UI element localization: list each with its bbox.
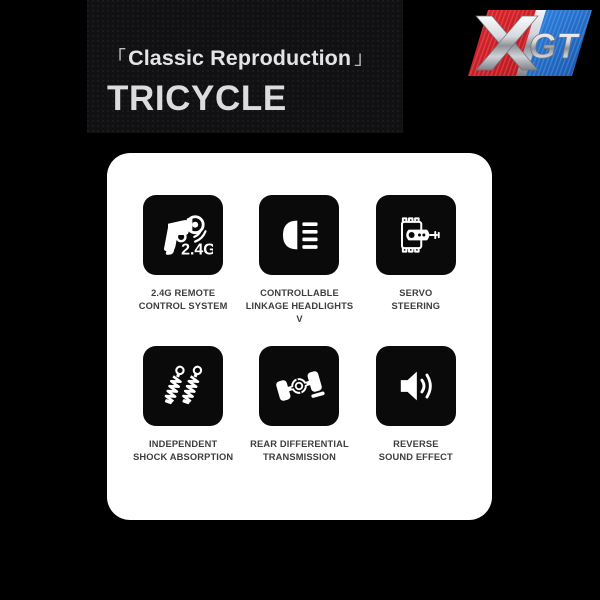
- feature-item-shock-absorption[interactable]: INDEPENDENT SHOCK ABSORPTION: [125, 346, 241, 491]
- icon-tile: 2.4G: [143, 195, 223, 275]
- feature-item-reverse-sound[interactable]: REVERSE SOUND EFFECT: [358, 346, 474, 491]
- icon-tile: [376, 195, 456, 275]
- icon-tile: [259, 346, 339, 426]
- icon-tile: [259, 195, 339, 275]
- speaker-sound-icon: [389, 359, 443, 413]
- icon-tile: [376, 346, 456, 426]
- rear-differential-axle-icon: [270, 357, 328, 415]
- xgt-logo: GT: [466, 2, 594, 84]
- feature-item-remote-control[interactable]: 2.4G 2.4G REMOTE CONTROL SYSTEM: [125, 195, 241, 340]
- logo-wordmark: GT: [529, 27, 580, 66]
- bracket-close-icon: 」: [354, 49, 373, 68]
- feature-caption: 2.4G REMOTE CONTROL SYSTEM: [139, 287, 228, 313]
- bracket-open-icon: 「: [107, 49, 126, 68]
- feature-caption: REAR DIFFERENTIAL TRANSMISSION: [250, 438, 349, 464]
- feature-card: 2.4G 2.4G REMOTE CONTROL SYSTEM: [107, 153, 492, 520]
- rc-transmitter-icon: 2.4G: [153, 205, 213, 265]
- header-eyebrow-text: Classic Reproduction: [128, 48, 351, 70]
- feature-item-servo-steering[interactable]: SERVO STEERING: [358, 195, 474, 340]
- icon-tile: [143, 346, 223, 426]
- servo-steering-icon: [388, 207, 444, 263]
- shock-right: [182, 365, 203, 404]
- feature-caption: SERVO STEERING: [391, 287, 440, 313]
- shock-absorber-icon: [155, 358, 211, 414]
- feature-item-rear-differential[interactable]: REAR DIFFERENTIAL TRANSMISSION: [241, 346, 357, 491]
- feature-caption: INDEPENDENT SHOCK ABSORPTION: [133, 438, 233, 464]
- feature-item-headlights[interactable]: CONTROLLABLE LINKAGE HEADLIGHTS V: [241, 195, 357, 340]
- shock-left: [164, 365, 185, 404]
- header-eyebrow: 「 Classic Reproduction 」: [107, 48, 437, 70]
- header-text-group: 「 Classic Reproduction 」 TRICYCLE: [107, 48, 437, 116]
- headlight-beam-icon: [272, 208, 326, 262]
- feature-caption: REVERSE SOUND EFFECT: [379, 438, 453, 464]
- badge-2-4g: 2.4G: [181, 242, 213, 259]
- feature-caption: CONTROLLABLE LINKAGE HEADLIGHTS V: [241, 287, 357, 327]
- page-title: TRICYCLE: [107, 81, 437, 116]
- feature-grid: 2.4G 2.4G REMOTE CONTROL SYSTEM: [107, 153, 492, 520]
